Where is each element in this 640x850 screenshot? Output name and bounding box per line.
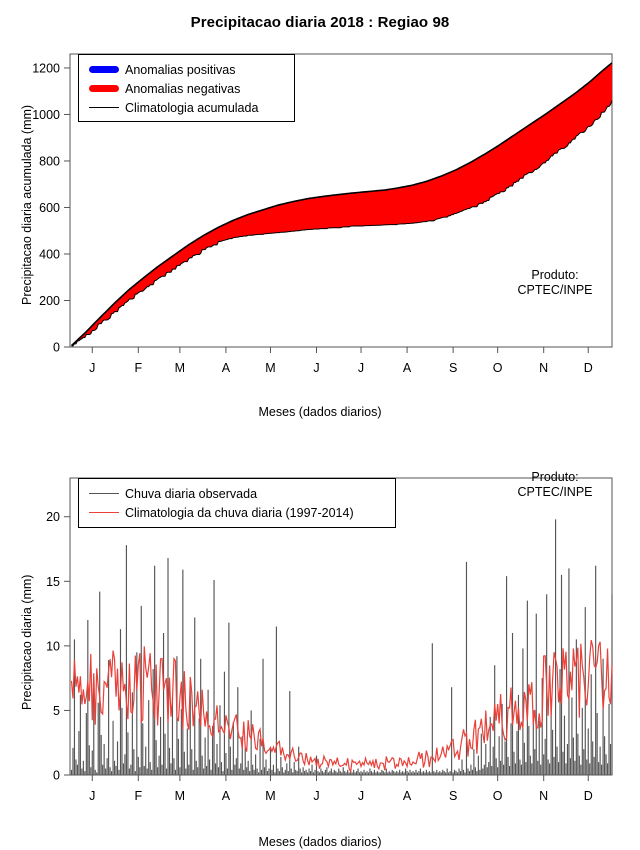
x-tick-label: A	[222, 361, 231, 375]
produto-annotation-bottom: Produto: CPTEC/INPE	[500, 470, 610, 500]
x-tick-label: M	[265, 789, 275, 803]
legend-label-anomalias-negativas: Anomalias negativas	[125, 82, 240, 96]
x-tick-label: J	[89, 789, 95, 803]
x-tick-label: J	[313, 789, 319, 803]
x-tick-label: D	[584, 789, 593, 803]
legend-item-anomalias-negativas: Anomalias negativas	[83, 79, 290, 98]
x-tick-label: D	[584, 361, 593, 375]
x-tick-label: S	[449, 789, 457, 803]
legend-item-climatologia-diaria: Climatologia da chuva diaria (1997-2014)	[83, 503, 391, 522]
x-tick-label: A	[403, 789, 412, 803]
legend-label-chuva-observada: Chuva diaria observada	[125, 487, 257, 501]
y-tick-label: 5	[53, 704, 60, 718]
x-tick-label: J	[89, 361, 95, 375]
y-tick-label: 1200	[32, 61, 60, 75]
x-tick-label: J	[313, 361, 319, 375]
precipitation-report-page: Precipitacao diaria 2018 : Regiao 98 020…	[0, 0, 640, 850]
x-tick-label: M	[175, 361, 185, 375]
x-tick-label: F	[134, 361, 142, 375]
y-tick-label: 15	[46, 575, 60, 589]
y-tick-label: 400	[39, 247, 60, 261]
legend-swatch-climatology-icon	[83, 107, 125, 108]
y-tick-label: 1000	[32, 108, 60, 122]
daily-climatology-line	[71, 640, 612, 772]
x-tick-label: A	[222, 789, 231, 803]
legend-item-climatologia-acumulada: Climatologia acumulada	[83, 98, 290, 117]
produto-label-line1-bottom: Produto:	[500, 470, 610, 485]
legend-label-anomalias-positivas: Anomalias positivas	[125, 63, 235, 77]
x-tick-label: S	[449, 361, 457, 375]
accumulated-precipitation-panel: Precipitacao diaria 2018 : Regiao 98 020…	[0, 0, 640, 430]
legend-item-anomalias-positivas: Anomalias positivas	[83, 60, 290, 79]
accumulated-legend: Anomalias positivas Anomalias negativas …	[78, 54, 295, 122]
produto-label-line2: CPTEC/INPE	[500, 283, 610, 298]
y-tick-label: 0	[53, 769, 60, 783]
x-tick-label: O	[493, 361, 503, 375]
y-tick-label: 10	[46, 639, 60, 653]
legend-swatch-observed-icon	[83, 493, 125, 494]
legend-swatch-climatology-daily-icon	[83, 512, 125, 513]
y-tick-label: 800	[39, 154, 60, 168]
daily-precipitation-panel: 05101520JFMAMJJASOND Precipitacao diaria…	[0, 430, 640, 850]
legend-item-chuva-observada: Chuva diaria observada	[83, 484, 391, 503]
y-tick-label: 600	[39, 201, 60, 215]
x-tick-label: F	[134, 789, 142, 803]
legend-swatch-negative-icon	[83, 85, 125, 92]
x-tick-label: M	[175, 789, 185, 803]
legend-label-climatologia-diaria: Climatologia da chuva diaria (1997-2014)	[125, 506, 354, 520]
x-tick-label: M	[265, 361, 275, 375]
x-tick-label: N	[539, 361, 548, 375]
accumulated-x-axis-label: Meses (dados diarios)	[0, 405, 640, 419]
y-tick-label: 0	[53, 341, 60, 355]
daily-y-axis-label: Precipitacao diaria (mm)	[20, 575, 34, 710]
observed-daily-bars	[71, 519, 612, 775]
produto-annotation-top: Produto: CPTEC/INPE	[500, 268, 610, 298]
daily-x-axis-label: Meses (dados diarios)	[0, 835, 640, 849]
y-tick-label: 20	[46, 510, 60, 524]
daily-legend: Chuva diaria observada Climatologia da c…	[78, 478, 396, 528]
x-tick-label: J	[358, 789, 364, 803]
x-tick-label: O	[493, 789, 503, 803]
x-tick-label: J	[358, 361, 364, 375]
x-tick-label: A	[403, 361, 412, 375]
produto-label-line1: Produto:	[500, 268, 610, 283]
x-tick-label: N	[539, 789, 548, 803]
accumulated-y-axis-label: Precipitacao diaria acumulada (mm)	[20, 105, 34, 305]
legend-label-climatologia-acumulada: Climatologia acumulada	[125, 101, 258, 115]
legend-swatch-positive-icon	[83, 66, 125, 73]
y-tick-label: 200	[39, 294, 60, 308]
produto-label-line2-bottom: CPTEC/INPE	[500, 485, 610, 500]
